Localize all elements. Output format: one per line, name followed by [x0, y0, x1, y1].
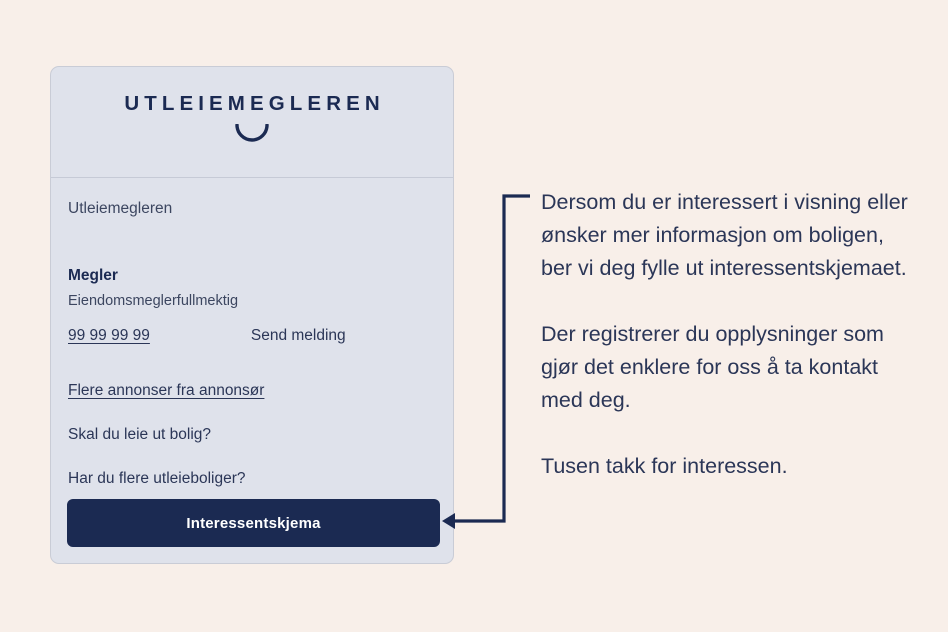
- annotation-text: Dersom du er interessert i visning eller…: [541, 186, 911, 483]
- rent-out-link[interactable]: Skal du leie ut bolig?: [68, 426, 436, 444]
- more-ads-link[interactable]: Flere annonser fra annonsør: [68, 382, 436, 400]
- company-name: Utleiemegleren: [68, 200, 436, 219]
- send-message-link[interactable]: Send melding: [251, 327, 346, 345]
- advertiser-links: Flere annonser fra annonsør Skal du leie…: [68, 382, 436, 488]
- card-body: Utleiemegleren Megler Eiendomsmeglerfull…: [51, 178, 453, 488]
- agent-role: Eiendomsmeglerfullmektig: [68, 292, 436, 310]
- annotation-paragraph-1: Dersom du er interessert i visning eller…: [541, 186, 911, 285]
- contact-row: 99 99 99 99 Send melding: [68, 327, 436, 345]
- interessentskjema-button[interactable]: Interessentskjema: [67, 499, 440, 547]
- annotation-paragraph-2: Der registrerer du opplysninger som gjør…: [541, 318, 911, 417]
- multiple-rentals-link[interactable]: Har du flere utleieboliger?: [68, 470, 436, 488]
- brand-wordmark: UTLEIEMEGLEREN: [119, 94, 385, 115]
- annotation-paragraph-3: Tusen takk for interessen.: [541, 450, 911, 483]
- card-header: UTLEIEMEGLEREN: [51, 67, 453, 178]
- agent-name: Megler: [68, 266, 436, 285]
- agent-details: Megler Eiendomsmeglerfullmektig 99 99 99…: [68, 266, 436, 346]
- phone-link[interactable]: 99 99 99 99: [68, 327, 150, 345]
- smile-arc-icon: [234, 124, 270, 144]
- agent-contact-card: UTLEIEMEGLEREN Utleiemegleren Megler Eie…: [50, 66, 454, 564]
